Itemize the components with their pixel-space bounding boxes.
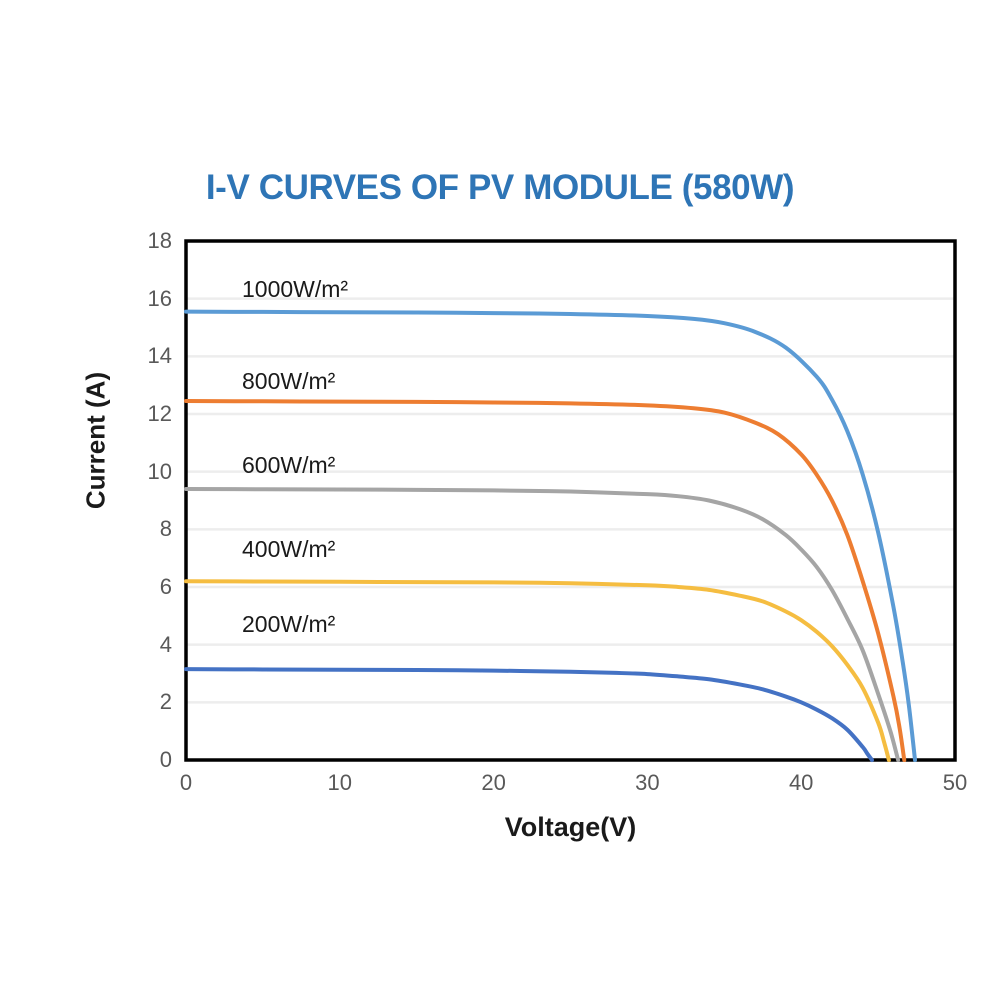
y-tick-label: 18	[112, 230, 172, 252]
series-label-4: 400W/m²	[242, 538, 335, 561]
y-tick-label: 12	[112, 403, 172, 425]
y-tick-label: 2	[112, 691, 172, 713]
x-tick-label: 30	[607, 772, 687, 794]
x-tick-label: 20	[454, 772, 534, 794]
series-label-3: 600W/m²	[242, 454, 335, 477]
y-tick-label: 10	[112, 461, 172, 483]
y-tick-label: 14	[112, 345, 172, 367]
y-tick-label: 6	[112, 576, 172, 598]
series-label-5: 200W/m²	[242, 613, 335, 636]
plot-frame	[186, 241, 955, 760]
series-label-2: 800W/m²	[242, 370, 335, 393]
series-label-1: 1000W/m²	[242, 278, 348, 301]
x-tick-label: 10	[300, 772, 380, 794]
gridlines	[186, 299, 955, 703]
chart-container: I-V CURVES OF PV MODULE (580W) Current (…	[0, 0, 1000, 1000]
y-tick-label: 16	[112, 288, 172, 310]
y-tick-label: 8	[112, 518, 172, 540]
x-tick-label: 50	[915, 772, 995, 794]
series-line-5	[186, 669, 872, 760]
x-tick-label: 40	[761, 772, 841, 794]
y-tick-label: 4	[112, 634, 172, 656]
plot-area	[0, 0, 1000, 1000]
y-tick-label: 0	[112, 749, 172, 771]
x-tick-label: 0	[146, 772, 226, 794]
plot-border	[186, 241, 955, 760]
